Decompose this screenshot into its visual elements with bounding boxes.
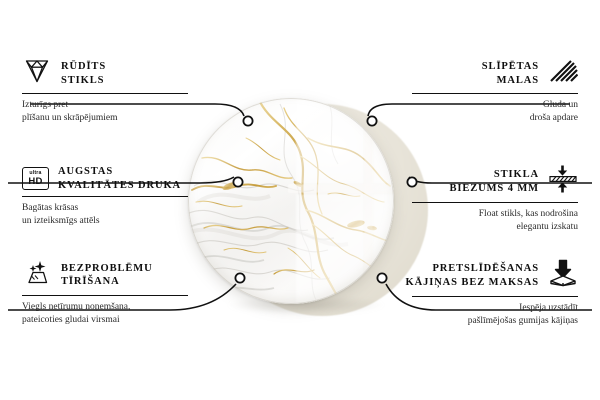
feature-header: STIKLA BIEZUMS 4 MM: [412, 165, 578, 198]
infographic-canvas: RŪDĪTS STIKLS Izturīgs pret plīšanu un s…: [0, 0, 600, 400]
diamond-icon: [22, 58, 52, 89]
feature-title: RŪDĪTS STIKLS: [61, 60, 106, 87]
feature-header: PRETSLĪDĒŠANAS KĀJIŅAS BEZ MAKSAS: [412, 259, 578, 292]
feature-polished-edges: SLĪPĒTAS MALAS Gluda un droša apdare: [412, 58, 578, 124]
thickness-icon: [548, 165, 578, 198]
feature-description: Iespēja uzstādīt pašlīmējošas gumijas kā…: [412, 302, 578, 327]
feature-header: BEZPROBLĒMU TĪRĪŠANA: [22, 259, 188, 291]
marble-gold-veins: [188, 98, 394, 304]
feature-description: Viegls netīrumu noņemšana, pateicoties g…: [22, 301, 188, 326]
feature-title: PRETSLĪDĒŠANAS KĀJIŅAS BEZ MAKSAS: [406, 262, 539, 289]
feature-header: RŪDĪTS STIKLS: [22, 58, 188, 89]
feature-glass-thickness: STIKLA BIEZUMS 4 MM: [412, 165, 578, 233]
feature-description: Float stikls, kas nodrošina elegantu izs…: [412, 208, 578, 233]
feature-divider: [412, 296, 578, 297]
feature-header: ultra HD AUGSTAS KVALITĀTES DRUKA: [22, 165, 188, 192]
feature-divider: [22, 295, 188, 296]
round-glass-board: [188, 98, 394, 304]
anti-slip-feet-icon: [548, 259, 578, 292]
feature-title: STIKLA BIEZUMS 4 MM: [449, 168, 539, 195]
ultra-hd-icon: ultra HD: [22, 167, 49, 190]
feature-print-quality: ultra HD AUGSTAS KVALITĀTES DRUKA Bagāta…: [22, 165, 188, 227]
feature-divider: [412, 93, 578, 94]
feature-header: SLĪPĒTAS MALAS: [412, 58, 578, 89]
ultra-hd-bottom-label: HD: [28, 177, 42, 187]
feature-title: SLĪPĒTAS MALAS: [482, 60, 539, 87]
feature-title: AUGSTAS KVALITĀTES DRUKA: [58, 165, 181, 192]
sponge-sparkle-icon: [22, 259, 52, 291]
feature-description: Bagātas krāsas un izteiksmīgs attēls: [22, 202, 188, 227]
feature-anti-slip-feet: PRETSLĪDĒŠANAS KĀJIŅAS BEZ MAKSAS Iespēj…: [412, 259, 578, 327]
feature-divider: [22, 196, 188, 197]
feature-tempered-glass: RŪDĪTS STIKLS Izturīgs pret plīšanu un s…: [22, 58, 188, 124]
feature-title: BEZPROBLĒMU TĪRĪŠANA: [61, 262, 153, 289]
feature-divider: [412, 202, 578, 203]
polished-edge-icon: [548, 58, 578, 89]
feature-description: Izturīgs pret plīšanu un skrāpējumiem: [22, 99, 188, 124]
feature-divider: [22, 93, 188, 94]
feature-easy-cleaning: BEZPROBLĒMU TĪRĪŠANA Viegls netīrumu noņ…: [22, 259, 188, 326]
feature-description: Gluda un droša apdare: [412, 99, 578, 124]
